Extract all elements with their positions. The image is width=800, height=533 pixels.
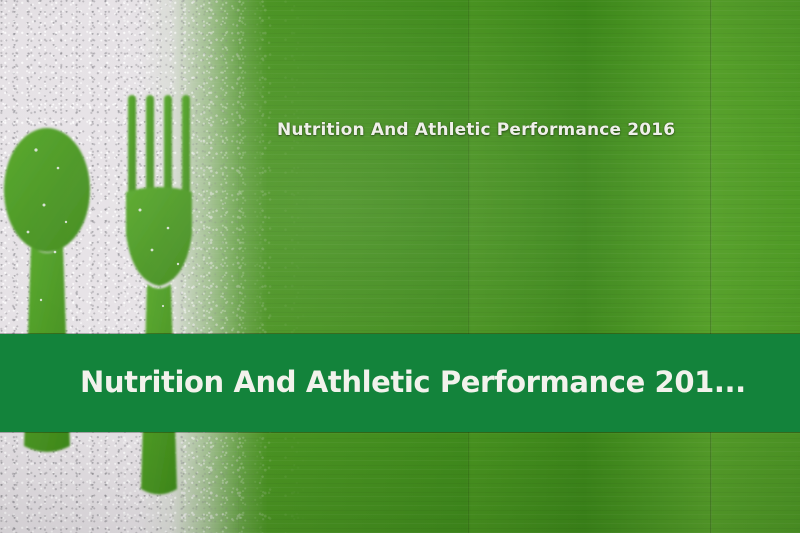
screenshot-root: Nutrition And Athletic Performance 2016 … (0, 0, 800, 533)
photo-vignette (0, 0, 800, 533)
photo-headline: Nutrition And Athletic Performance 2016 (277, 120, 675, 140)
title-banner: Nutrition And Athletic Performance 201..… (0, 334, 800, 432)
banner-title: Nutrition And Athletic Performance 201..… (80, 367, 746, 399)
